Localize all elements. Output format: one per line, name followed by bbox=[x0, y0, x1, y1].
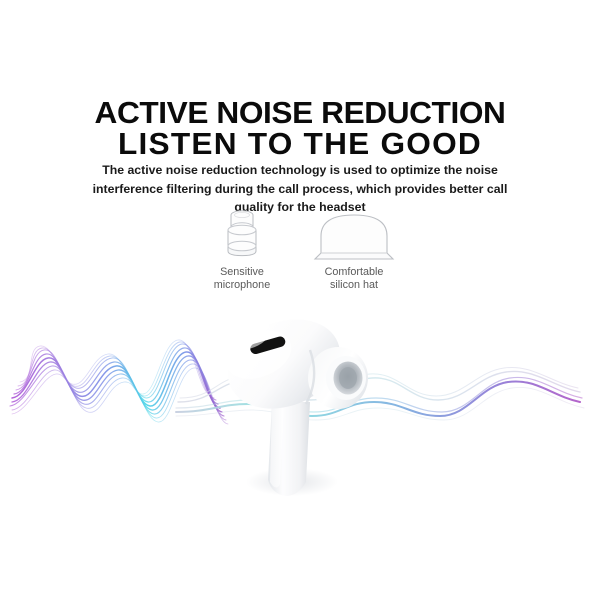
headline-line-1: ACTIVE NOISE REDUCTION bbox=[95, 95, 506, 130]
product-marketing-banner: ACTIVE NOISE REDUCTION LISTEN TO THE GOO… bbox=[0, 0, 600, 600]
ear-tip-dome-icon bbox=[304, 206, 404, 262]
page-title: ACTIVE NOISE REDUCTION LISTEN TO THE GOO… bbox=[0, 97, 600, 159]
earbud-nozzle bbox=[308, 347, 368, 409]
feature-label: Sensitive microphone bbox=[196, 266, 288, 291]
feature-callouts: Sensitive microphone Comfortable silicon… bbox=[196, 206, 404, 302]
feature-comfortable-silicon-hat: Comfortable silicon hat bbox=[304, 206, 404, 291]
feature-label: Comfortable silicon hat bbox=[304, 266, 404, 291]
feature-sensitive-microphone: Sensitive microphone bbox=[196, 206, 288, 291]
headline-line-2: LISTEN TO THE GOOD bbox=[0, 128, 600, 159]
earbud-product-image bbox=[206, 306, 386, 506]
microphone-capsule-icon bbox=[196, 206, 288, 262]
